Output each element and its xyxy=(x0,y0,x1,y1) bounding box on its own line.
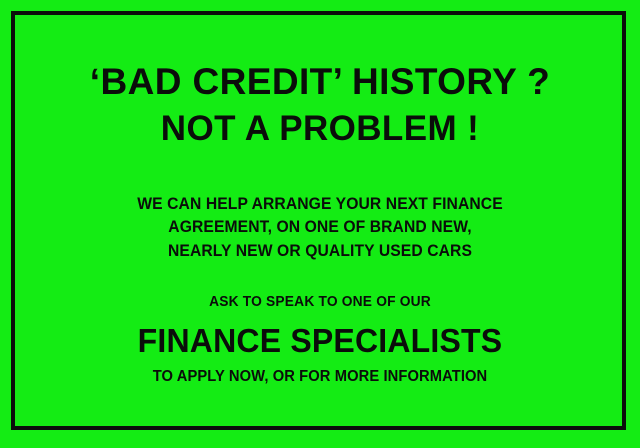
cta-lead-in-text: ASK TO SPEAK TO ONE OF OUR xyxy=(31,293,609,312)
headline-secondary: NOT A PROBLEM ! xyxy=(16,108,624,149)
advertisement-poster: ‘BAD CREDIT’ HISTORY ? NOT A PROBLEM ! W… xyxy=(0,0,640,448)
cta-tail-text: TO APPLY NOW, OR FOR MORE INFORMATION xyxy=(31,367,609,387)
poster-content: ‘BAD CREDIT’ HISTORY ? NOT A PROBLEM ! W… xyxy=(16,16,624,432)
body-copy-line-3: NEARLY NEW OR QUALITY USED CARS xyxy=(31,240,609,264)
headline-block: ‘BAD CREDIT’ HISTORY ? NOT A PROBLEM ! xyxy=(16,62,624,150)
call-to-action-block: ASK TO SPEAK TO ONE OF OUR FINANCE SPECI… xyxy=(16,293,624,387)
cta-headline-finance-specialists: FINANCE SPECIALISTS xyxy=(25,321,615,361)
body-copy-line-2: AGREEMENT, ON ONE OF BRAND NEW, xyxy=(31,216,609,240)
headline-primary: ‘BAD CREDIT’ HISTORY ? xyxy=(16,62,624,101)
body-copy-block: WE CAN HELP ARRANGE YOUR NEXT FINANCE AG… xyxy=(16,193,624,265)
body-copy-line-1: WE CAN HELP ARRANGE YOUR NEXT FINANCE xyxy=(31,193,609,217)
